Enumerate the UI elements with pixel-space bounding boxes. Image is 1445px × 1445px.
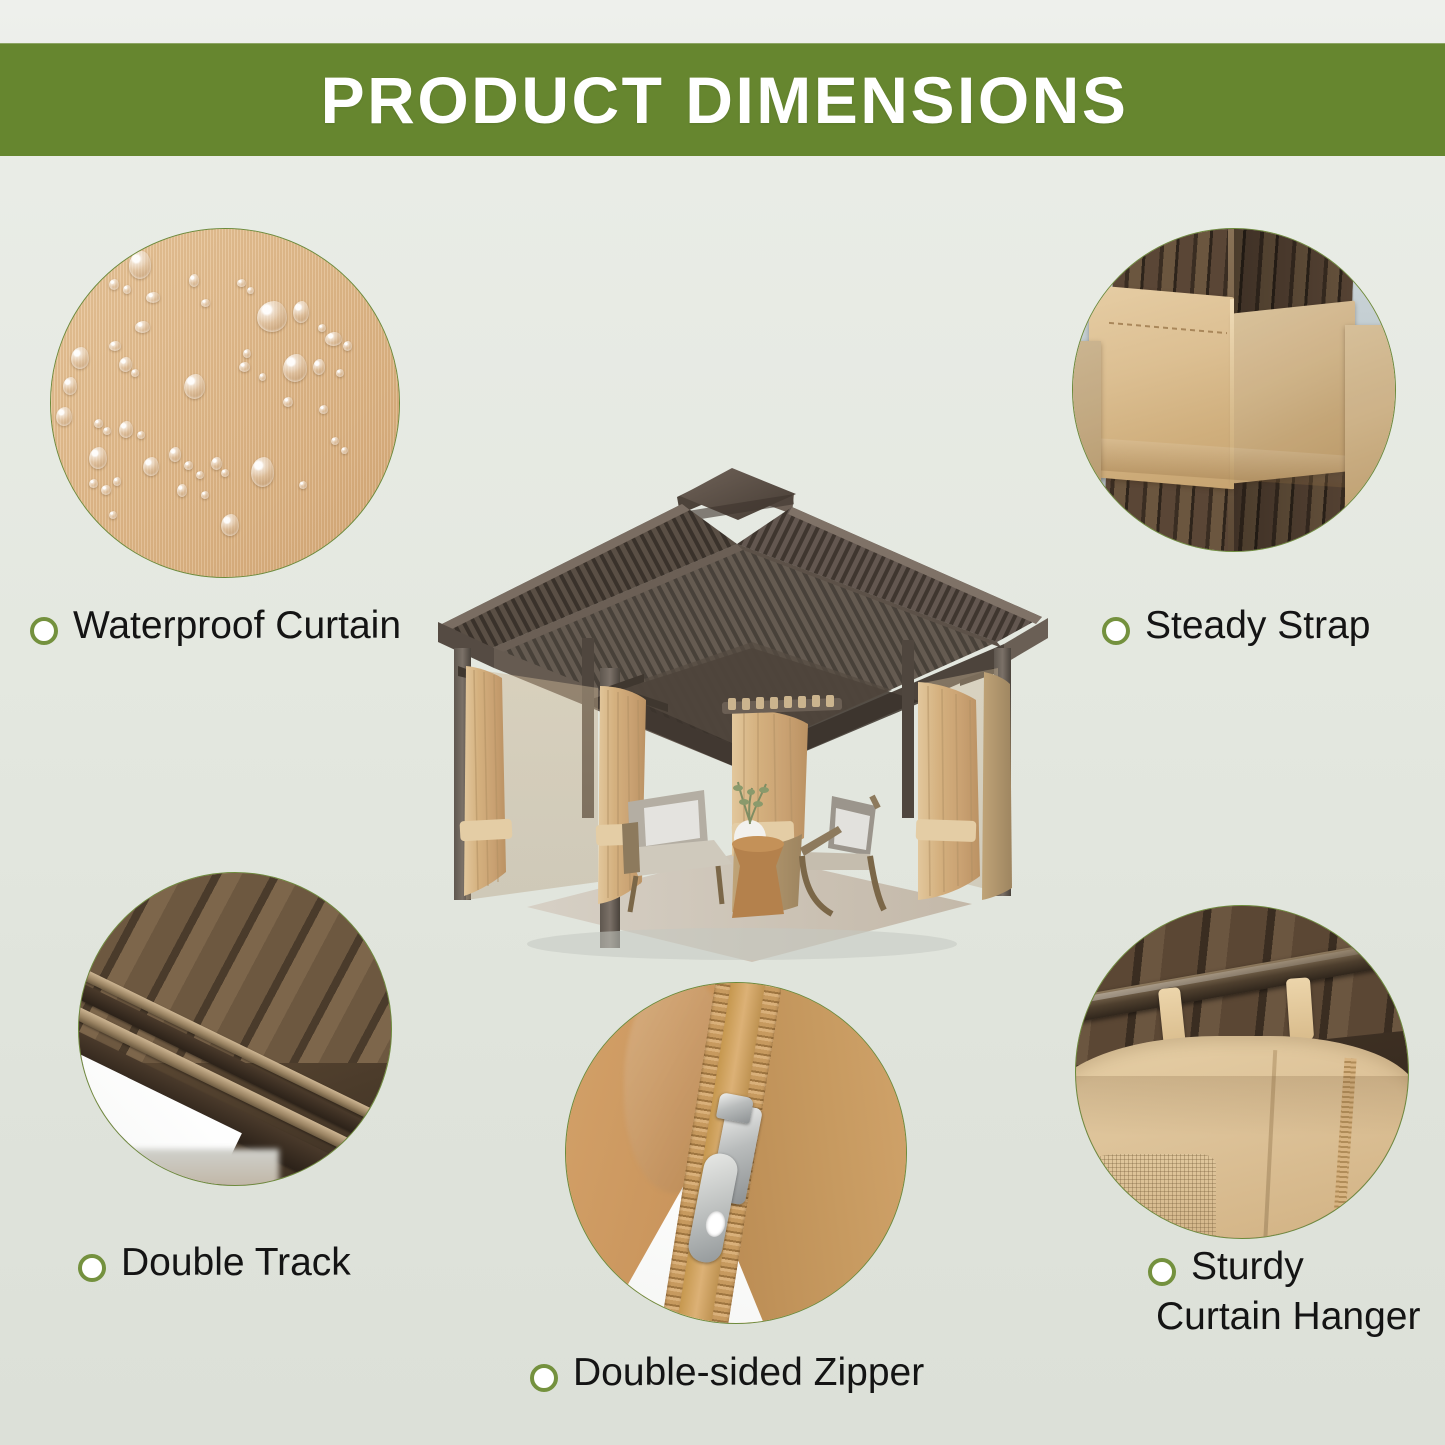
water-droplet <box>184 374 205 399</box>
sofa-arm-left <box>622 822 640 874</box>
water-droplet <box>63 377 77 395</box>
water-droplet <box>331 437 339 445</box>
water-droplet <box>119 421 133 438</box>
water-droplet <box>299 481 307 489</box>
curtain-shadow <box>1075 1076 1409 1136</box>
water-droplet <box>143 457 159 476</box>
water-droplet <box>201 491 209 499</box>
water-droplet <box>109 341 121 351</box>
gazebo-illustration <box>432 452 1052 964</box>
water-droplet <box>336 369 344 377</box>
water-droplet <box>283 354 307 382</box>
water-droplet <box>113 477 121 486</box>
page-title: PRODUCT DIMENSIONS <box>317 67 1129 133</box>
curtain-loop-right <box>1286 977 1314 1041</box>
bullet-icon <box>1148 1258 1176 1286</box>
hanger-label-lines: Sturdy Curtain Hanger <box>1191 1242 1420 1342</box>
water-droplet <box>319 405 328 414</box>
water-droplet <box>239 362 250 372</box>
water-droplet <box>101 485 111 495</box>
feature-label-waterproof-curtain: Waterproof Curtain <box>30 601 401 651</box>
water-droplet <box>131 369 139 377</box>
feature-image-double-sided-zipper <box>565 982 907 1324</box>
water-droplet <box>109 511 117 519</box>
curtain-fold-right <box>1345 325 1396 552</box>
gazebo-ground-shadow <box>527 928 957 960</box>
water-droplet <box>103 427 111 435</box>
water-droplet <box>71 347 89 369</box>
bullet-icon <box>30 617 58 645</box>
blurred-ground <box>78 1149 279 1186</box>
water-droplet <box>146 292 160 303</box>
water-droplet <box>257 301 287 332</box>
page-background: PRODUCT DIMENSIONS <box>0 0 1445 1445</box>
water-droplet <box>221 514 239 536</box>
water-droplet <box>119 357 132 372</box>
mesh-netting-panel <box>1075 1154 1216 1239</box>
curtain-far-right <box>982 672 1012 900</box>
water-droplet <box>196 471 204 479</box>
water-droplet <box>129 251 151 279</box>
water-droplet <box>283 397 293 407</box>
water-droplet <box>237 279 246 287</box>
water-droplet <box>243 349 251 358</box>
water-droplet <box>177 484 187 497</box>
bullet-icon <box>1102 617 1130 645</box>
product-image-gazebo <box>432 452 1052 964</box>
side-table-top <box>732 836 784 852</box>
water-droplet <box>189 274 199 287</box>
water-droplet <box>89 447 107 469</box>
bullet-icon <box>78 1254 106 1282</box>
hanger-label-line1: Sturdy <box>1191 1242 1420 1292</box>
water-droplet <box>318 324 326 332</box>
water-droplet <box>89 479 98 488</box>
water-droplet <box>211 457 222 470</box>
water-droplet <box>313 359 325 375</box>
hanger-label-line2: Curtain Hanger <box>1156 1292 1420 1342</box>
water-droplet <box>259 373 266 381</box>
water-droplet <box>109 279 119 290</box>
header-banner: PRODUCT DIMENSIONS <box>0 43 1445 156</box>
water-droplet <box>201 299 210 307</box>
water-droplet <box>94 419 103 428</box>
curtain-fold-left <box>1072 341 1101 552</box>
feature-image-double-track <box>78 872 392 1186</box>
feature-label-steady-strap: Steady Strap <box>1102 601 1370 651</box>
water-droplet <box>341 447 348 454</box>
water-droplet <box>169 447 181 462</box>
water-droplet <box>135 321 150 333</box>
water-droplet <box>325 332 342 346</box>
side-table <box>732 844 784 918</box>
chair-right-seat <box>804 852 872 870</box>
feature-image-steady-strap <box>1072 228 1396 552</box>
water-droplet <box>221 469 229 477</box>
water-droplet <box>247 287 254 294</box>
water-droplet <box>56 407 72 426</box>
feature-label-sturdy-curtain-hanger: Sturdy Curtain Hanger <box>1148 1242 1428 1342</box>
water-droplet <box>293 301 309 323</box>
water-droplet <box>343 341 352 351</box>
water-droplet <box>137 431 145 439</box>
feature-label-double-track: Double Track <box>78 1238 351 1288</box>
feature-image-waterproof-curtain <box>50 228 400 578</box>
curtain-tieback-right <box>916 819 977 842</box>
water-droplet <box>184 461 193 470</box>
water-droplet <box>123 285 131 294</box>
water-droplet <box>251 457 274 487</box>
gazebo-post-rear-right <box>902 640 914 818</box>
curtain-tieback-left <box>460 819 513 842</box>
feature-label-double-sided-zipper: Double-sided Zipper <box>530 1348 924 1398</box>
sofa-cushion-left <box>644 800 700 846</box>
bullet-icon <box>530 1364 558 1392</box>
feature-image-sturdy-curtain-hanger <box>1075 905 1409 1239</box>
